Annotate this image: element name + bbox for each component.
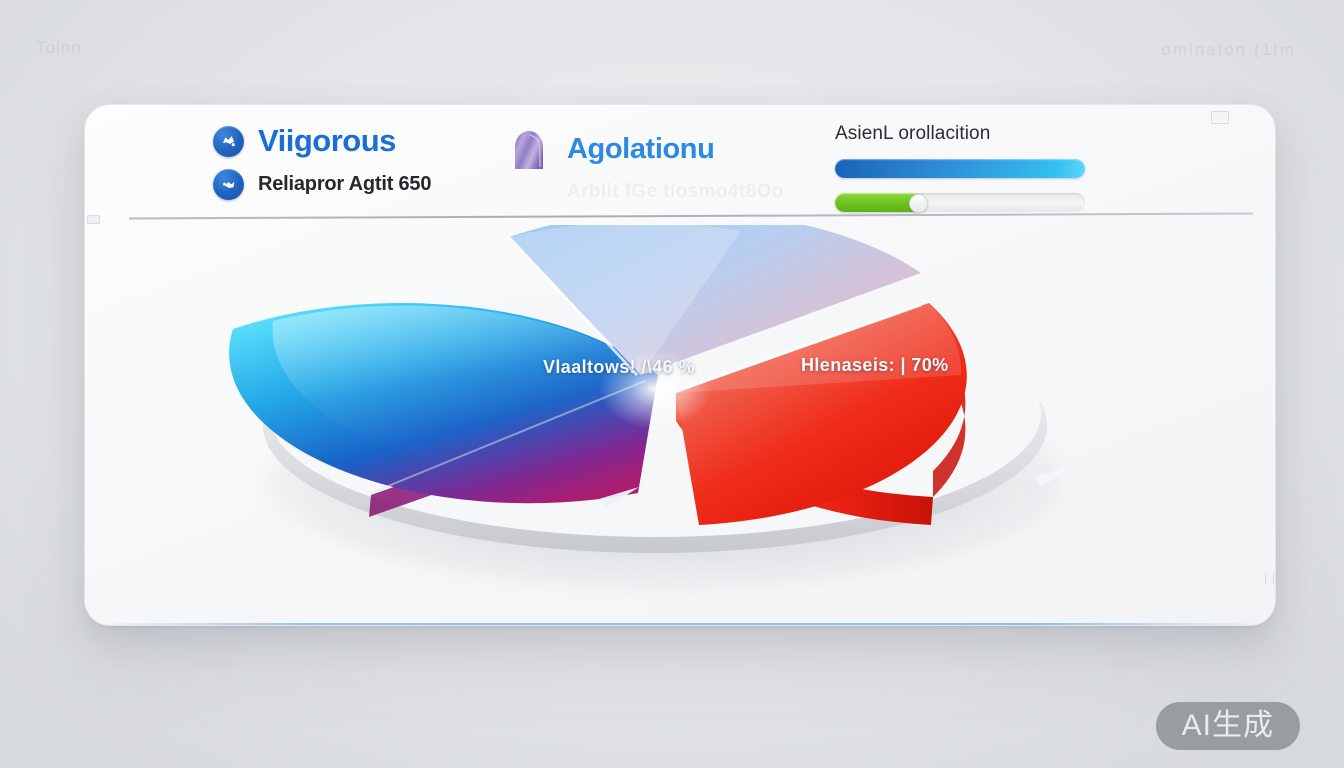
header-middle-row: Agolationu [509, 127, 784, 171]
progress-label: AsienL orollacition [835, 123, 1085, 145]
header-title-row: Viigorous [213, 123, 431, 159]
page-title: Viigorous [258, 123, 396, 159]
chart-area: Vlaaltows! /\46 % Hlenaseis: | 70% [85, 217, 1275, 625]
background-text-right: ominaton (1tm [1161, 40, 1296, 60]
pin-badge-icon[interactable] [213, 169, 244, 200]
pie-slice-label-red: Hlenaseis: | 70% [801, 355, 949, 376]
secondary-progress-bar[interactable] [835, 193, 1085, 212]
secondary-progress-knob[interactable] [909, 194, 928, 213]
main-card: Viigorous Reliapror Agtit 650 [84, 104, 1276, 626]
secondary-progress-fill [835, 193, 918, 212]
header-middle-group: Agolationu Arblit fGe tiosmo4t8Oo [509, 127, 784, 203]
section-title: Agolationu [567, 133, 714, 166]
page-subtitle: Reliapror Agtit 650 [258, 173, 431, 196]
header-title-group: Viigorous Reliapror Agtit 650 [213, 123, 431, 200]
primary-progress-bar[interactable] [835, 159, 1085, 178]
pie-chart: Vlaaltows! /\46 % Hlenaseis: | 70% [221, 225, 1111, 585]
dome-shape-icon [509, 127, 549, 171]
pie-slice-label-blue: Vlaaltows! /\46 % [543, 357, 695, 378]
header-subtitle-row: Reliapror Agtit 650 [213, 169, 431, 200]
background-text-left: Toinn [36, 38, 82, 58]
ai-generated-watermark: AI生成 [1156, 702, 1300, 750]
section-ghost-text: Arblit fGe tiosmo4t8Oo [567, 181, 784, 203]
star-badge-icon[interactable] [213, 126, 244, 157]
progress-group: AsienL orollacition [835, 123, 1085, 212]
primary-progress-fill [835, 159, 1085, 178]
card-header: Viigorous Reliapror Agtit 650 [85, 105, 1275, 217]
